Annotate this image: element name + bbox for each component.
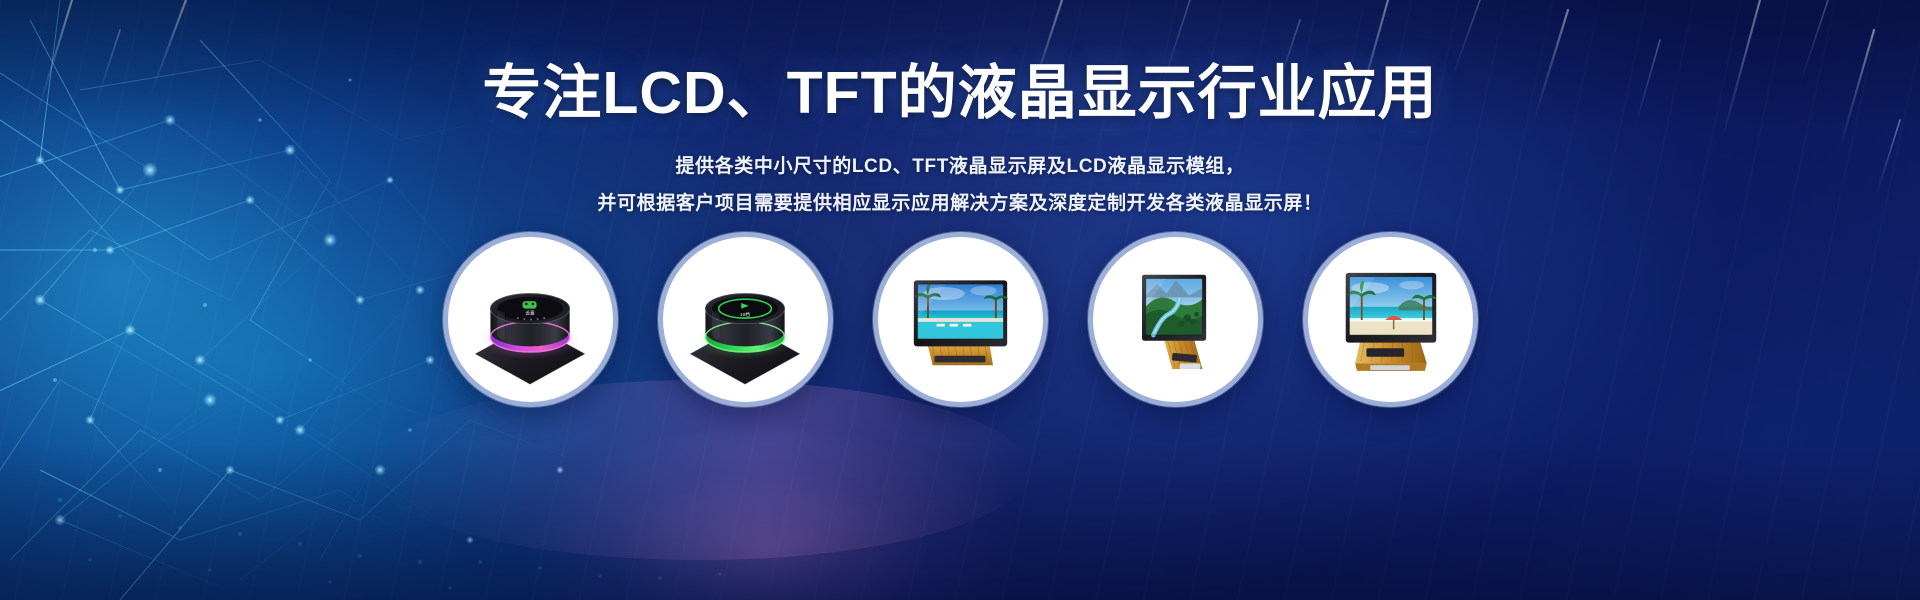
- product-circle-tft-lcd-portrait-fpc[interactable]: [1088, 232, 1263, 407]
- product-circle-smart-speaker-green[interactable]: 10档: [658, 232, 833, 407]
- product-circle-tft-lcd-widescreen[interactable]: [873, 232, 1048, 407]
- tft-lcd-module-flex-image: [1308, 237, 1473, 402]
- banner-subtitle: 提供各类中小尺寸的LCD、TFT液晶显示屏及LCD液晶显示模组， 并可根据客户项…: [0, 148, 1920, 222]
- banner-text-block: 专注LCD、TFT的液晶显示行业应用 提供各类中小尺寸的LCD、TFT液晶显示屏…: [0, 0, 1920, 222]
- speaker-screen-label: 设置: [525, 309, 535, 316]
- smart-speaker-green-image: 10档: [663, 237, 828, 402]
- product-circle-tft-lcd-module-flex[interactable]: [1303, 232, 1478, 407]
- tft-lcd-widescreen-image: [878, 237, 1043, 402]
- product-circle-row: 设置: [0, 232, 1920, 407]
- smart-speaker-magenta-image: 设置: [448, 237, 613, 402]
- speaker-screen-label: 10档: [740, 311, 750, 318]
- tft-lcd-portrait-fpc-image: [1093, 237, 1258, 402]
- product-circle-smart-speaker-magenta[interactable]: 设置: [443, 232, 618, 407]
- subtitle-line-1: 提供各类中小尺寸的LCD、TFT液晶显示屏及LCD液晶显示模组，: [0, 148, 1920, 185]
- hero-banner: 专注LCD、TFT的液晶显示行业应用 提供各类中小尺寸的LCD、TFT液晶显示屏…: [0, 0, 1920, 600]
- page-title: 专注LCD、TFT的液晶显示行业应用: [0, 62, 1920, 126]
- subtitle-line-2: 并可根据客户项目需要提供相应显示应用解决方案及深度定制开发各类液晶显示屏！: [0, 185, 1920, 222]
